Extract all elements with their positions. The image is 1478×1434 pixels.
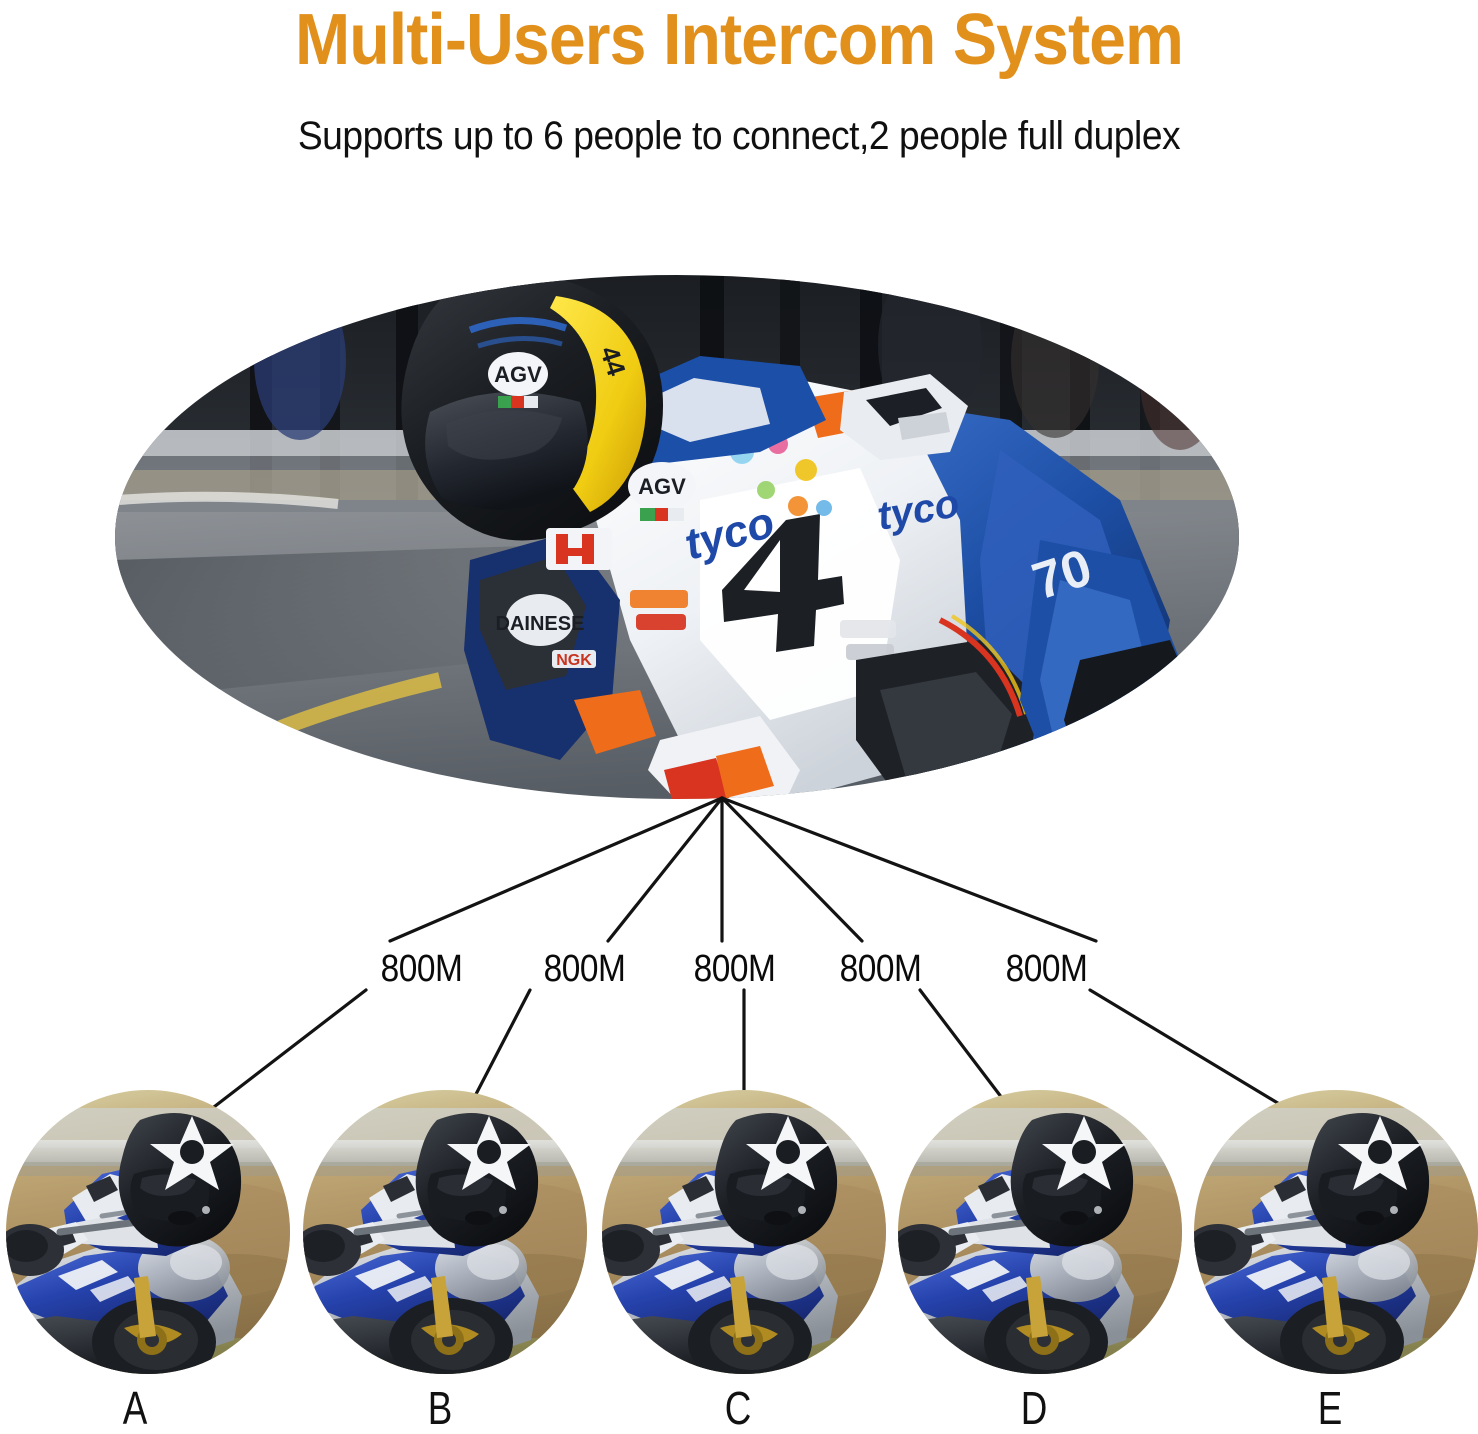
connector-lower-a [210, 990, 366, 1110]
connector-lower-e [1090, 990, 1286, 1108]
node-thumbnail-d[interactable] [878, 1090, 1228, 1386]
helmet: AGV 44 [401, 275, 663, 540]
connector-lower-d [920, 990, 1002, 1098]
svg-text:DAINESE: DAINESE [496, 613, 585, 635]
node-label-a: A [111, 1385, 159, 1431]
distance-label-a: 800M [381, 950, 463, 988]
node-label-d: D [1010, 1385, 1058, 1431]
svg-text:AGV: AGV [638, 474, 686, 499]
node-label-b: B [416, 1385, 464, 1431]
node-label-e: E [1306, 1385, 1354, 1431]
node-label-c: C [714, 1385, 762, 1431]
distance-label-b: 800M [544, 950, 626, 988]
svg-text:AGV: AGV [494, 362, 542, 387]
node-thumbnail-a[interactable] [0, 1090, 336, 1386]
infographic-page: Multi-Users Intercom System Supports up … [0, 0, 1478, 1431]
connector-upper-e [722, 798, 1096, 941]
connector-lower-b [474, 990, 530, 1098]
connector-upper-b [608, 798, 722, 941]
node-thumbnail-c[interactable] [582, 1090, 932, 1386]
hero-photo: tyco tyco [115, 259, 1240, 802]
svg-text:NGK: NGK [556, 652, 592, 669]
connector-upper-d [722, 798, 862, 941]
distance-label-e: 800M [1006, 950, 1088, 988]
node-thumbnail-e[interactable] [1174, 1090, 1478, 1386]
node-thumbnail-b[interactable] [283, 1090, 633, 1386]
distance-label-c: 800M [694, 950, 776, 988]
connector-upper-a [390, 798, 722, 941]
diagram-canvas: tyco tyco [0, 0, 1478, 1431]
distance-label-d: 800M [840, 950, 922, 988]
